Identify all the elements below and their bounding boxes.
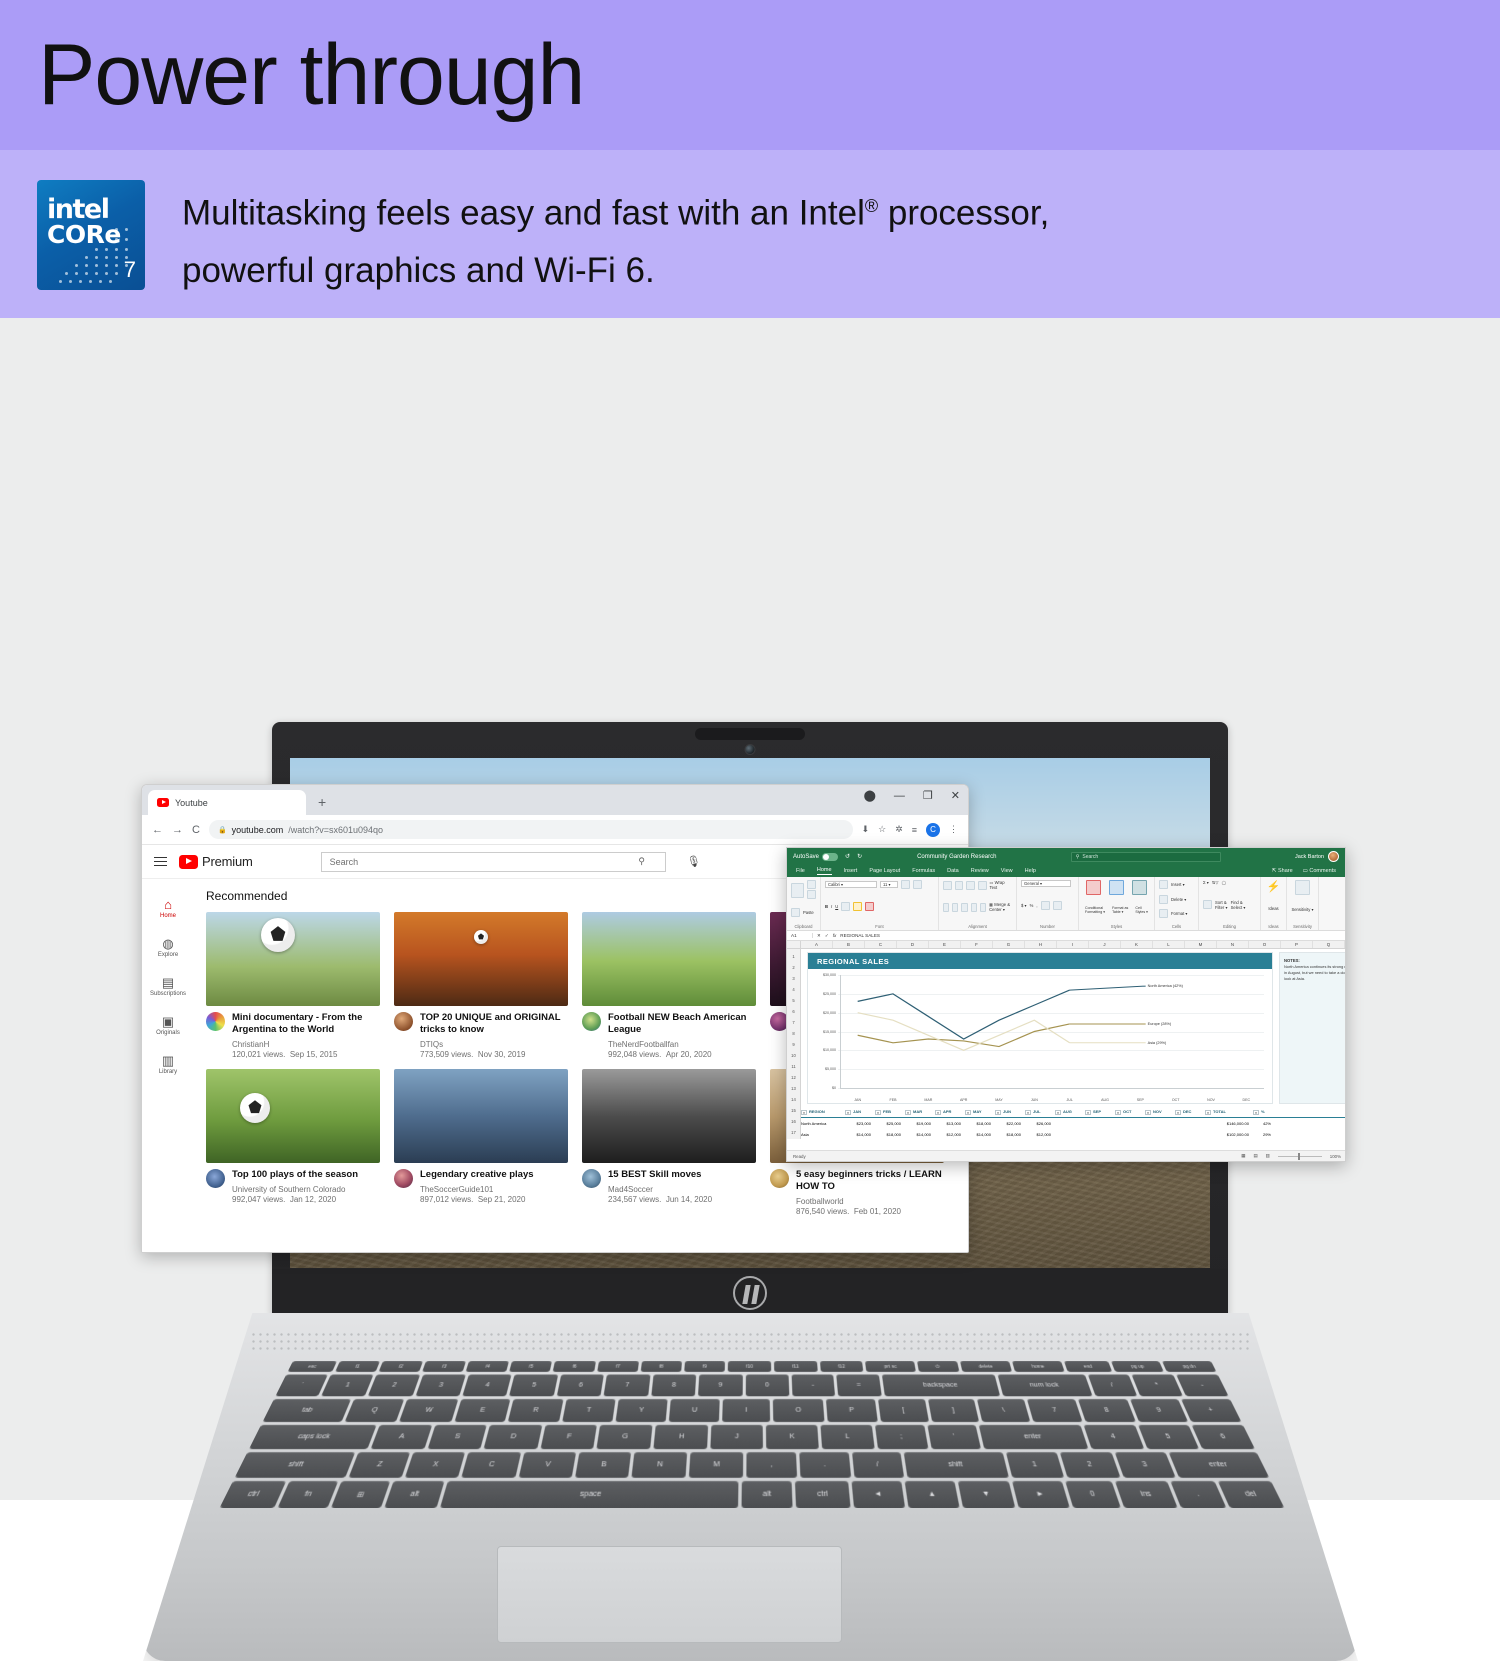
column-header-P[interactable]: P (1281, 941, 1313, 948)
key-y[interactable]: Y (615, 1399, 667, 1422)
key-pgup[interactable]: pg up (1111, 1361, 1164, 1372)
key-ctrl[interactable]: ctrl (795, 1481, 850, 1508)
channel-name[interactable]: TheNerdFootballfan (608, 1040, 756, 1049)
key-0[interactable]: 0 (745, 1374, 789, 1396)
format-label[interactable]: Format ▾ (1171, 911, 1188, 916)
filter-icon[interactable]: ▾ (1145, 1110, 1151, 1115)
channel-name[interactable]: Footballworld (796, 1197, 944, 1206)
search-input[interactable]: Search ⚲ (321, 852, 666, 872)
key-numlock[interactable]: num lock (997, 1374, 1092, 1396)
row-header-13[interactable]: 13 (787, 1083, 800, 1094)
filter-icon[interactable]: ▾ (995, 1110, 1001, 1115)
filter-icon[interactable]: ▾ (935, 1110, 941, 1115)
bookmark-star-icon[interactable]: ☆ (878, 824, 886, 835)
column-header-aug[interactable]: ▾AUG (1055, 1109, 1085, 1114)
column-header-B[interactable]: B (833, 941, 865, 948)
key-end[interactable]: end (1064, 1361, 1113, 1372)
key-ins[interactable]: ins (1115, 1481, 1178, 1508)
sidebar-item-library[interactable]: ▥Library (142, 1045, 194, 1084)
filter-icon[interactable]: ▾ (1055, 1110, 1061, 1115)
decrease-decimal-icon[interactable] (1053, 901, 1062, 910)
tab-data[interactable]: Data (947, 868, 959, 874)
key-f11[interactable]: f11 (774, 1361, 817, 1372)
tab-page-layout[interactable]: Page Layout (869, 868, 900, 874)
filter-icon[interactable]: ▾ (1085, 1110, 1091, 1115)
video-card[interactable]: Top 100 plays of the seasonUniversity of… (206, 1069, 380, 1216)
key-f4[interactable]: f4 (466, 1361, 509, 1372)
filter-icon[interactable]: ▾ (965, 1110, 971, 1115)
key-u[interactable]: U (669, 1399, 721, 1422)
key-f8[interactable]: f8 (640, 1361, 681, 1372)
column-header-nov[interactable]: ▾NOV (1145, 1109, 1175, 1114)
close-button[interactable]: ✕ (951, 789, 960, 802)
increase-indent-icon[interactable] (980, 903, 986, 912)
key-9[interactable]: 9 (698, 1374, 742, 1396)
column-header-mar[interactable]: ▾MAR (905, 1109, 935, 1114)
key-k[interactable]: K (766, 1425, 820, 1449)
key-w[interactable]: W (399, 1399, 459, 1422)
column-header-M[interactable]: M (1185, 941, 1217, 948)
cut-icon[interactable] (807, 880, 816, 889)
insert-label[interactable]: Insert ▾ (1171, 882, 1185, 887)
row-header-8[interactable]: 8 (787, 1028, 800, 1039)
channel-name[interactable]: TheSoccerGuide101 (420, 1185, 534, 1194)
key-[interactable]: ⊞ (331, 1481, 391, 1508)
tab-formulas[interactable]: Formulas (912, 868, 935, 874)
autosave-switch[interactable] (822, 853, 838, 861)
video-title[interactable]: Football NEW Beach American League (608, 1012, 756, 1036)
copy-icon[interactable] (807, 890, 816, 899)
sort-filter-icon[interactable]: ⇅▽ (1212, 880, 1219, 885)
key-z[interactable]: Z (349, 1452, 411, 1478)
find-select-icon[interactable]: ◯ (1222, 880, 1227, 885)
key-a[interactable]: A (371, 1425, 432, 1449)
increase-decimal-icon[interactable] (1041, 901, 1050, 910)
row-header-6[interactable]: 6 (787, 1006, 800, 1017)
tab-view[interactable]: View (1001, 868, 1013, 874)
video-title[interactable]: 15 BEST Skill moves (608, 1169, 712, 1181)
comments-button[interactable]: ▭ Comments (1303, 868, 1336, 874)
column-header-dec[interactable]: ▾DEC (1175, 1109, 1205, 1114)
key-7[interactable]: 7 (604, 1374, 650, 1396)
key-f10[interactable]: f10 (728, 1361, 771, 1372)
key-v[interactable]: V (519, 1452, 577, 1478)
keyboard[interactable]: escf1f2f3f4f5f6f7f8f9f10f11f12prt sc⏻del… (224, 1361, 1280, 1499)
excel-window[interactable]: AutoSave ↺ ↻ Community Garden Research ⚲… (786, 847, 1346, 1162)
percent-format-icon[interactable]: % (1030, 903, 1034, 908)
channel-avatar[interactable] (394, 1012, 413, 1031)
key-3[interactable]: 3 (1114, 1452, 1176, 1478)
decrease-indent-icon[interactable] (971, 903, 977, 912)
key-[interactable]: / (1087, 1374, 1137, 1396)
filter-icon[interactable]: ▾ (1175, 1110, 1181, 1115)
key-[interactable]: - (791, 1374, 834, 1396)
key-9[interactable]: 9 (1130, 1399, 1189, 1422)
column-header-feb[interactable]: ▾FEB (875, 1109, 905, 1114)
key-f1[interactable]: f1 (335, 1361, 380, 1372)
filter-icon[interactable]: ▾ (801, 1110, 807, 1115)
align-right-icon[interactable] (961, 903, 967, 912)
key-[interactable]: ⏻ (917, 1361, 959, 1372)
key-tab[interactable]: tab (263, 1399, 351, 1422)
video-thumbnail[interactable] (582, 912, 756, 1006)
format-as-table-icon[interactable] (1109, 880, 1124, 895)
maximize-button[interactable]: ❐ (923, 789, 933, 802)
underline-button[interactable]: U (835, 904, 838, 909)
key-i[interactable]: I (723, 1399, 770, 1422)
mic-icon[interactable]: 🎙 (687, 855, 701, 868)
key-t[interactable]: T (562, 1399, 615, 1422)
row-header-12[interactable]: 12 (787, 1072, 800, 1083)
filter-icon[interactable]: ▾ (1115, 1110, 1121, 1115)
share-button[interactable]: ⇱ Share (1272, 868, 1293, 874)
row-header-9[interactable]: 9 (787, 1039, 800, 1050)
key-delete[interactable]: delete (960, 1361, 1013, 1372)
key-[interactable]: ► (1012, 1481, 1070, 1508)
key-0[interactable]: 0 (1065, 1481, 1121, 1508)
video-card[interactable]: Football NEW Beach American LeagueTheNer… (582, 912, 756, 1059)
key-f2[interactable]: f2 (379, 1361, 424, 1372)
column-header-apr[interactable]: ▾APR (935, 1109, 965, 1114)
select-all-corner[interactable] (787, 941, 801, 948)
sort-filter-label[interactable]: Sort &Filter ▾ (1215, 900, 1228, 910)
column-header-D[interactable]: D (897, 941, 929, 948)
reload-button[interactable]: C (192, 824, 200, 836)
channel-avatar[interactable] (582, 1012, 601, 1031)
touchpad[interactable] (497, 1546, 842, 1643)
zoom-slider[interactable] (1278, 1156, 1322, 1157)
key-[interactable]: ` (275, 1374, 327, 1396)
row-header-10[interactable]: 10 (787, 1050, 800, 1061)
key-c[interactable]: C (461, 1452, 521, 1478)
sensitivity-icon[interactable] (1295, 880, 1310, 895)
channel-avatar[interactable] (206, 1012, 225, 1031)
key-f6[interactable]: f6 (553, 1361, 595, 1372)
name-box[interactable]: A1 (791, 933, 813, 938)
comma-format-icon[interactable]: , (1036, 903, 1037, 908)
cell-styles-icon[interactable] (1132, 880, 1147, 895)
key-alt[interactable]: alt (741, 1481, 793, 1508)
video-thumbnail[interactable] (582, 1069, 756, 1163)
key-o[interactable]: O (773, 1399, 825, 1422)
view-pagebreak-icon[interactable]: ▥ (1266, 1153, 1270, 1159)
video-title[interactable]: Mini documentary - From the Argentina to… (232, 1012, 380, 1036)
font-size-select[interactable]: 11 ▾ (880, 881, 898, 888)
column-header-Q[interactable]: Q (1313, 941, 1345, 948)
column-header-I[interactable]: I (1057, 941, 1089, 948)
key-x[interactable]: X (405, 1452, 466, 1478)
row-header-5[interactable]: 5 (787, 995, 800, 1006)
key-n[interactable]: N (632, 1452, 687, 1478)
column-header-jan[interactable]: ▾JAN (845, 1109, 875, 1114)
tab-home[interactable]: Home (817, 867, 832, 875)
key-p[interactable]: P (826, 1399, 878, 1422)
browser-tab-youtube[interactable]: Youtube (148, 790, 306, 815)
column-header-region[interactable]: ▾REGION (801, 1109, 845, 1114)
filter-icon[interactable]: ▾ (1253, 1110, 1259, 1115)
key-r[interactable]: R (508, 1399, 563, 1422)
key-7[interactable]: 7 (1027, 1399, 1083, 1422)
key-[interactable]: . (1171, 1481, 1227, 1508)
key-h[interactable]: H (654, 1425, 709, 1449)
key-space[interactable]: space (439, 1481, 738, 1508)
key-q[interactable]: Q (344, 1399, 404, 1422)
key-f9[interactable]: f9 (684, 1361, 725, 1372)
minimize-button[interactable]: — (894, 790, 905, 802)
column-header-O[interactable]: O (1249, 941, 1281, 948)
undo-icon[interactable]: ↺ (845, 853, 850, 860)
sidebar-item-home[interactable]: ⌂Home (142, 889, 194, 928)
key-[interactable]: [ (878, 1399, 929, 1422)
column-header-sep[interactable]: ▾SEP (1085, 1109, 1115, 1114)
tab-help[interactable]: Help (1025, 868, 1036, 874)
key-f3[interactable]: f3 (422, 1361, 466, 1372)
video-thumbnail[interactable] (206, 1069, 380, 1163)
column-header-F[interactable]: F (961, 941, 993, 948)
key-[interactable]: , (747, 1452, 797, 1478)
video-thumbnail[interactable] (394, 912, 568, 1006)
sidebar-item-explore[interactable]: ◍Explore (142, 928, 194, 967)
column-header-E[interactable]: E (929, 941, 961, 948)
column-header-A[interactable]: A (801, 941, 833, 948)
increase-font-icon[interactable] (901, 880, 910, 889)
font-color-icon[interactable] (865, 902, 874, 911)
format-cells-icon[interactable] (1159, 909, 1168, 918)
search-icon[interactable]: ⚲ (627, 856, 657, 867)
number-format-select[interactable]: General ▾ (1021, 880, 1071, 887)
row-header-1[interactable]: 1 (787, 951, 800, 962)
channel-name[interactable]: Mad4Soccer (608, 1185, 712, 1194)
video-card[interactable]: Legendary creative playsTheSoccerGuide10… (394, 1069, 568, 1216)
bold-button[interactable]: B (825, 904, 828, 909)
font-name-select[interactable]: Calibri ▾ (825, 881, 877, 888)
autosum-icon[interactable]: Σ ▾ (1203, 880, 1209, 885)
ideas-icon[interactable]: ⚡ (1267, 880, 1281, 893)
confirm-edit-icon[interactable]: ✓ (825, 933, 829, 939)
key-j[interactable]: J (711, 1425, 763, 1449)
key-alt[interactable]: alt (384, 1481, 444, 1508)
key-3[interactable]: 3 (415, 1374, 466, 1396)
channel-name[interactable]: DTIQs (420, 1040, 568, 1049)
formula-bar[interactable]: A1 ✕ ✓ fx REGIONAL SALES (787, 931, 1345, 941)
column-header-[interactable]: ▾% (1253, 1109, 1275, 1114)
column-header-L[interactable]: L (1153, 941, 1185, 948)
menu-hamburger-icon[interactable] (154, 854, 167, 869)
user-account[interactable]: Jack Barton (1295, 851, 1339, 862)
key-[interactable]: ' (927, 1425, 981, 1449)
video-title[interactable]: Legendary creative plays (420, 1169, 534, 1181)
align-middle-icon[interactable] (955, 881, 964, 890)
key-[interactable]: ◄ (851, 1481, 905, 1508)
cancel-edit-icon[interactable]: ✕ (817, 933, 821, 939)
find-select-label[interactable]: Find &Select ▾ (1231, 900, 1246, 910)
orientation-icon[interactable] (978, 881, 987, 890)
filter-icon[interactable]: ▾ (905, 1110, 911, 1115)
key-l[interactable]: L (821, 1425, 875, 1449)
key-f7[interactable]: f7 (597, 1361, 639, 1372)
column-header-total[interactable]: ▾TOTAL (1205, 1109, 1253, 1114)
row-header-3[interactable]: 3 (787, 973, 800, 984)
channel-name[interactable]: University of Southern Colorado (232, 1185, 358, 1194)
key-s[interactable]: S (427, 1425, 487, 1449)
video-title[interactable]: 5 easy beginners tricks / LEARN HOW TO (796, 1169, 944, 1193)
key-[interactable]: ] (928, 1399, 980, 1422)
align-left-icon[interactable] (943, 903, 949, 912)
key-[interactable]: . (799, 1452, 850, 1478)
row-header-16[interactable]: 16 (787, 1116, 800, 1127)
key-[interactable]: / (852, 1452, 905, 1478)
key-2[interactable]: 2 (368, 1374, 420, 1396)
merge-center-button[interactable]: ▦ Merge & Center ▾ (989, 902, 1012, 912)
borders-icon[interactable] (841, 902, 850, 911)
delete-cells-icon[interactable] (1159, 895, 1168, 904)
channel-avatar[interactable] (206, 1169, 225, 1188)
insert-cells-icon[interactable] (1159, 880, 1168, 889)
key-8[interactable]: 8 (651, 1374, 696, 1396)
key-e[interactable]: E (454, 1399, 510, 1422)
row-header-2[interactable]: 2 (787, 962, 800, 973)
video-title[interactable]: Top 100 plays of the season (232, 1169, 358, 1181)
key-6[interactable]: 6 (557, 1374, 604, 1396)
filter-icon[interactable]: ▾ (1025, 1110, 1031, 1115)
decrease-font-icon[interactable] (913, 880, 922, 889)
key-backspace[interactable]: backspace (882, 1374, 1000, 1396)
key-prtsc[interactable]: prt sc (865, 1361, 915, 1372)
column-header-oct[interactable]: ▾OCT (1115, 1109, 1145, 1114)
key-shift[interactable]: shift (235, 1452, 356, 1478)
column-header-jul[interactable]: ▾JUL (1025, 1109, 1055, 1114)
chrome-menu-icon[interactable]: ⋮ (949, 824, 958, 835)
key-f[interactable]: F (541, 1425, 598, 1449)
key-[interactable]: ▼ (958, 1481, 1015, 1508)
filter-icon[interactable]: ▾ (875, 1110, 881, 1115)
forward-button[interactable]: → (172, 824, 183, 836)
download-icon[interactable]: ⬇ (862, 824, 870, 835)
currency-format-icon[interactable]: $ ▾ (1021, 903, 1027, 908)
column-header-J[interactable]: J (1089, 941, 1121, 948)
key-f5[interactable]: f5 (509, 1361, 552, 1372)
filter-icon[interactable]: ▾ (845, 1110, 851, 1115)
key-[interactable]: \ (977, 1399, 1030, 1422)
row-header-15[interactable]: 15 (787, 1105, 800, 1116)
reading-list-icon[interactable]: ≡ (912, 825, 917, 835)
key-8[interactable]: 8 (1078, 1399, 1135, 1422)
key-[interactable]: ▲ (905, 1481, 960, 1508)
tab-file[interactable]: File (796, 868, 805, 874)
key-shift[interactable]: shift (904, 1452, 1009, 1478)
insert-function-icon[interactable]: fx (833, 933, 837, 938)
align-top-icon[interactable] (943, 881, 952, 890)
key-pgdn[interactable]: pg dn (1162, 1361, 1216, 1372)
key-g[interactable]: G (597, 1425, 653, 1449)
key-1[interactable]: 1 (1005, 1452, 1064, 1478)
channel-avatar[interactable] (770, 1169, 789, 1188)
excel-sheet[interactable]: 1234567891011121314151617 REGIONAL SALES… (787, 949, 1345, 1139)
delete-label[interactable]: Delete ▾ (1171, 897, 1186, 902)
key-enter[interactable]: enter (979, 1425, 1089, 1449)
key-5[interactable]: 5 (1138, 1425, 1200, 1449)
row-header-17[interactable]: 17 (787, 1127, 800, 1138)
video-thumbnail[interactable] (206, 912, 380, 1006)
column-header-jun[interactable]: ▾JUN (995, 1109, 1025, 1114)
column-header-may[interactable]: ▾MAY (965, 1109, 995, 1114)
key-[interactable]: * (1131, 1374, 1183, 1396)
align-bottom-icon[interactable] (966, 881, 975, 890)
row-header-4[interactable]: 4 (787, 984, 800, 995)
excel-search-input[interactable]: ⚲ Search (1071, 852, 1221, 862)
key-4[interactable]: 4 (462, 1374, 512, 1396)
filter-icon[interactable]: ▾ (1205, 1110, 1211, 1115)
profile-avatar[interactable]: C (926, 823, 940, 837)
pin-icon[interactable]: ⬤ (864, 789, 876, 802)
new-tab-button[interactable]: + (318, 795, 326, 815)
channel-name[interactable]: ChristianH (232, 1040, 380, 1049)
view-normal-icon[interactable]: ▦ (1241, 1153, 1245, 1159)
youtube-brand[interactable]: Premium (179, 854, 253, 869)
view-pagelayout-icon[interactable]: ▤ (1253, 1153, 1257, 1159)
channel-avatar[interactable] (582, 1169, 601, 1188)
paste-icon[interactable] (791, 883, 804, 898)
key-5[interactable]: 5 (510, 1374, 559, 1396)
format-painter-icon[interactable] (791, 908, 800, 917)
video-card[interactable]: 15 BEST Skill movesMad4Soccer234,567 vie… (582, 1069, 756, 1216)
fill-icon[interactable] (1203, 900, 1212, 909)
column-header-K[interactable]: K (1121, 941, 1153, 948)
key-1[interactable]: 1 (321, 1374, 374, 1396)
column-header-G[interactable]: G (993, 941, 1025, 948)
video-thumbnail[interactable] (394, 1069, 568, 1163)
video-card[interactable]: Mini documentary - From the Argentina to… (206, 912, 380, 1059)
key-2[interactable]: 2 (1060, 1452, 1120, 1478)
key-enter[interactable]: enter (1169, 1452, 1270, 1478)
video-card[interactable]: TOP 20 UNIQUE and ORIGINAL tricks to kno… (394, 912, 568, 1059)
key-m[interactable]: M (689, 1452, 744, 1478)
key-fn[interactable]: fn (277, 1481, 338, 1508)
key-f12[interactable]: f12 (820, 1361, 864, 1372)
sidebar-item-originals[interactable]: ▣Originals (142, 1006, 194, 1045)
key-capslock[interactable]: caps lock (249, 1425, 377, 1449)
column-header-C[interactable]: C (865, 941, 897, 948)
video-title[interactable]: TOP 20 UNIQUE and ORIGINAL tricks to kno… (420, 1012, 568, 1036)
key-4[interactable]: 4 (1083, 1425, 1144, 1449)
key-home[interactable]: home (1012, 1361, 1064, 1372)
key-b[interactable]: B (575, 1452, 631, 1478)
conditional-formatting-icon[interactable] (1086, 880, 1101, 895)
tab-insert[interactable]: Insert (844, 868, 858, 874)
back-button[interactable]: ← (152, 824, 163, 836)
row-header-11[interactable]: 11 (787, 1061, 800, 1072)
column-header-H[interactable]: H (1025, 941, 1057, 948)
address-bar[interactable]: 🔒 youtube.com/watch?v=sx601u094qo (209, 820, 853, 839)
row-header-14[interactable]: 14 (787, 1094, 800, 1105)
sidebar-item-subscriptions[interactable]: ▤Subscriptions (142, 967, 194, 1006)
channel-avatar[interactable] (394, 1169, 413, 1188)
italic-button[interactable]: I (831, 904, 832, 909)
redo-icon[interactable]: ↻ (857, 853, 862, 860)
column-header-N[interactable]: N (1217, 941, 1249, 948)
row-header-7[interactable]: 7 (787, 1017, 800, 1028)
wrap-text-button[interactable]: ▭ Wrap Text (990, 880, 1013, 890)
extensions-icon[interactable]: ✲ (895, 824, 903, 835)
tab-review[interactable]: Review (971, 868, 989, 874)
autosave-toggle[interactable]: AutoSave (793, 853, 838, 861)
key-[interactable]: ; (875, 1425, 928, 1449)
align-center-icon[interactable] (952, 903, 958, 912)
key-esc[interactable]: esc (288, 1361, 337, 1372)
key-[interactable]: = (836, 1374, 882, 1396)
key-d[interactable]: D (484, 1425, 543, 1449)
fill-color-icon[interactable] (853, 902, 862, 911)
